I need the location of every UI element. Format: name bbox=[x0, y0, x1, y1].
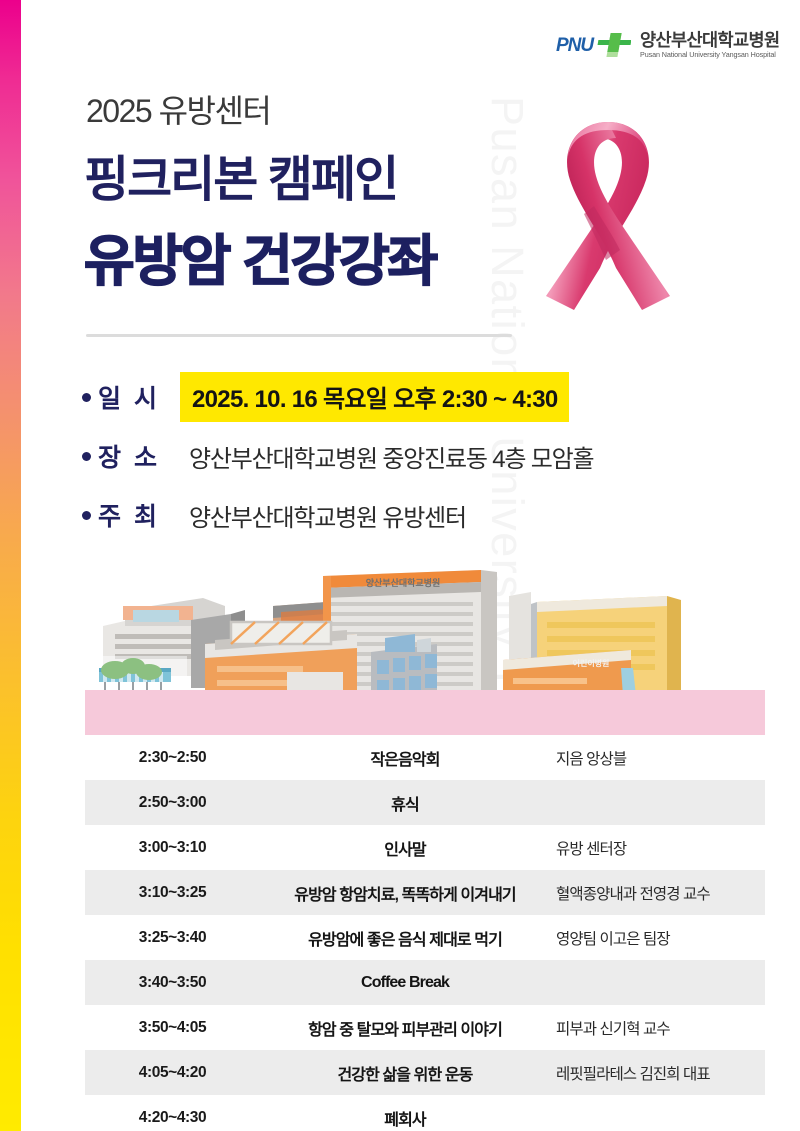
cell-time: 4:20~4:30 bbox=[85, 1109, 260, 1127]
poster-root: Pusan National University Yangsan Hospit… bbox=[0, 0, 800, 1131]
cell-speaker: 피부과 신기혁 교수 bbox=[550, 1017, 765, 1039]
table-row: 4:05~4:20 건강한 삶을 위한 운동 레핏필라테스 김진희 대표 bbox=[85, 1050, 765, 1095]
bullet-icon bbox=[82, 511, 91, 520]
pink-band bbox=[85, 690, 765, 735]
cell-time: 4:05~4:20 bbox=[85, 1064, 260, 1082]
cell-topic: 유방암에 좋은 음식 제대로 먹기 bbox=[260, 926, 550, 950]
cell-time: 2:50~3:00 bbox=[85, 794, 260, 812]
cell-time: 3:40~3:50 bbox=[85, 974, 260, 992]
table-row: 2:50~3:00 휴식 bbox=[85, 780, 765, 825]
info-row-host: 주 최 양산부산대학교병원 유방센터 bbox=[82, 494, 682, 536]
cell-topic: 폐회사 bbox=[260, 1106, 550, 1130]
kicker-text: 2025 유방센터 bbox=[86, 86, 270, 132]
cell-topic: 건강한 삶을 위한 운동 bbox=[260, 1061, 550, 1085]
table-row: 3:00~3:10 인사말 유방 센터장 bbox=[85, 825, 765, 870]
table-row: 3:25~3:40 유방암에 좋은 음식 제대로 먹기 영양팀 이고은 팀장 bbox=[85, 915, 765, 960]
cell-speaker: 레핏필라테스 김진희 대표 bbox=[550, 1062, 765, 1084]
info-value-venue: 양산부산대학교병원 중앙진료동 4층 모암홀 bbox=[180, 439, 593, 474]
cell-topic: Coffee Break bbox=[260, 974, 550, 992]
pink-ribbon-icon bbox=[528, 110, 688, 325]
hospital-name-ko: 양산부산대학교병원 bbox=[640, 31, 780, 49]
cell-time: 3:10~3:25 bbox=[85, 884, 260, 902]
cell-time: 2:30~2:50 bbox=[85, 749, 260, 767]
hospital-logo: PNU 양산부산대학교병원 Pusan National University … bbox=[556, 31, 780, 59]
info-label-host: 주 최 bbox=[98, 497, 180, 533]
cell-topic: 유방암 항암치료, 똑똑하게 이겨내기 bbox=[260, 881, 550, 905]
table-row: 3:40~3:50 Coffee Break bbox=[85, 960, 765, 1005]
cell-speaker: 지음 앙상블 bbox=[550, 747, 765, 769]
info-row-datetime: 일 시 2025. 10. 16 목요일 오후 2:30 ~ 4:30 bbox=[82, 376, 682, 418]
table-row: 2:30~2:50 작은음악회 지음 앙상블 bbox=[85, 735, 765, 780]
table-row: 3:50~4:05 항암 중 탈모와 피부관리 이야기 피부과 신기혁 교수 bbox=[85, 1005, 765, 1050]
title-line-2: 유방암 건강강좌 bbox=[84, 216, 436, 296]
table-row: 4:20~4:30 폐회사 bbox=[85, 1095, 765, 1131]
cell-speaker: 유방 센터장 bbox=[550, 837, 765, 859]
info-label-datetime: 일 시 bbox=[98, 379, 180, 415]
info-value-host: 양산부산대학교병원 유방센터 bbox=[180, 498, 466, 533]
title-divider bbox=[86, 334, 512, 337]
cell-time: 3:00~3:10 bbox=[85, 839, 260, 857]
info-label-venue: 장 소 bbox=[98, 438, 180, 474]
cell-speaker: 혈액종양내과 전영경 교수 bbox=[550, 882, 765, 904]
cell-topic: 휴식 bbox=[260, 791, 550, 815]
green-cross-icon bbox=[594, 31, 631, 59]
info-value-datetime: 2025. 10. 16 목요일 오후 2:30 ~ 4:30 bbox=[180, 372, 569, 422]
hospital-name-block: 양산부산대학교병원 Pusan National University Yang… bbox=[640, 31, 780, 59]
cell-topic: 작은음악회 bbox=[260, 746, 550, 770]
info-row-venue: 장 소 양산부산대학교병원 중앙진료동 4층 모암홀 bbox=[82, 435, 682, 477]
pnu-logo-mark: PNU bbox=[556, 31, 631, 59]
schedule-table: 2:30~2:50 작은음악회 지음 앙상블 2:50~3:00 휴식 3:00… bbox=[85, 735, 765, 1131]
hospital-name-en: Pusan National University Yangsan Hospit… bbox=[640, 51, 780, 59]
cell-topic: 항암 중 탈모와 피부관리 이야기 bbox=[260, 1016, 550, 1040]
cell-time: 3:25~3:40 bbox=[85, 929, 260, 947]
title-line-1: 핑크리본 캠페인 bbox=[84, 140, 397, 211]
bullet-icon bbox=[82, 393, 91, 402]
bullet-icon bbox=[82, 452, 91, 461]
tower-sign-label: 양산부산대학교병원 bbox=[366, 577, 441, 588]
table-row: 3:10~3:25 유방암 항암치료, 똑똑하게 이겨내기 혈액종양내과 전영경… bbox=[85, 870, 765, 915]
event-info-list: 일 시 2025. 10. 16 목요일 오후 2:30 ~ 4:30 장 소 … bbox=[82, 376, 682, 553]
annex-sign-label: 어린이병원 bbox=[573, 658, 610, 668]
cell-time: 3:50~4:05 bbox=[85, 1019, 260, 1037]
cell-topic: 인사말 bbox=[260, 836, 550, 860]
pnu-wordmark: PNU bbox=[556, 35, 593, 57]
left-gradient-bar bbox=[0, 0, 21, 1131]
cell-speaker: 영양팀 이고은 팀장 bbox=[550, 927, 765, 949]
